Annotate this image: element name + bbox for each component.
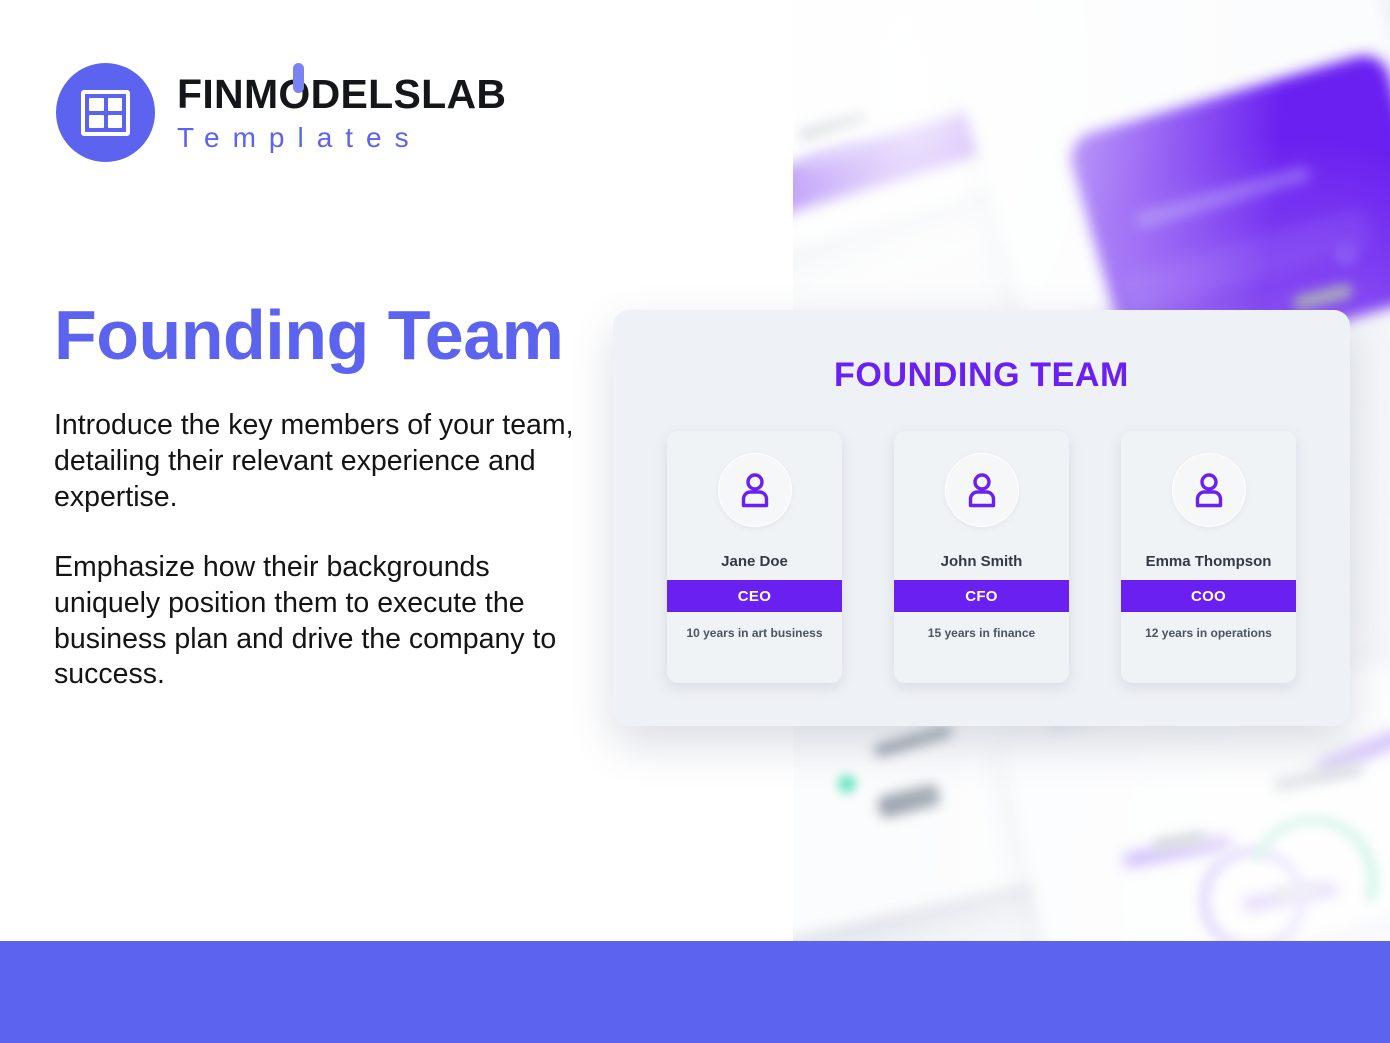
body-copy: Introduce the key members of your team, … [54,408,574,693]
member-name: John Smith [941,553,1023,570]
member-experience: 10 years in art business [686,626,822,640]
bottom-accent-bar [0,941,1390,1043]
location-pin-icon [293,63,304,93]
team-member-card[interactable]: Emma Thompson COO 12 years in operations [1121,431,1296,683]
brand-subwordmark: Templates [177,124,506,152]
team-member-card[interactable]: Jane Doe CEO 10 years in art business [667,431,842,683]
role-badge: CEO [667,580,842,612]
paragraph-2: Emphasize how their backgrounds uniquely… [54,550,574,694]
grid-squares-icon [81,90,130,136]
team-member-card[interactable]: John Smith CFO 15 years in finance [894,431,1069,683]
person-icon [1192,472,1226,508]
team-cards-row: Jane Doe CEO 10 years in art business Jo… [613,431,1350,683]
person-icon [965,472,999,508]
member-name: Emma Thompson [1146,553,1272,570]
logo-mark [56,63,155,162]
member-name: Jane Doe [721,553,788,570]
founding-team-preview-panel: FOUNDING TEAM Jane Doe CEO 10 years in a… [613,310,1350,726]
brand-wordmark: FINMODELSLAB [177,74,506,115]
avatar [1172,453,1246,527]
preview-title: FOUNDING TEAM [613,356,1350,395]
avatar [945,453,1019,527]
logo-text: FINMODELSLAB Templates [177,74,506,152]
role-badge: CFO [894,580,1069,612]
paragraph-1: Introduce the key members of your team, … [54,408,574,516]
member-experience: 12 years in operations [1145,626,1272,640]
member-experience: 15 years in finance [928,626,1035,640]
person-icon [738,472,772,508]
page-title: Founding Team [54,297,563,374]
role-badge: COO [1121,580,1296,612]
bg-dot [1333,240,1359,266]
avatar [718,453,792,527]
slide-canvas: FINMODELSLAB Templates Founding Team Int… [0,0,1390,1043]
brand-logo: FINMODELSLAB Templates [56,63,506,162]
bg-accent-dot [838,775,856,793]
